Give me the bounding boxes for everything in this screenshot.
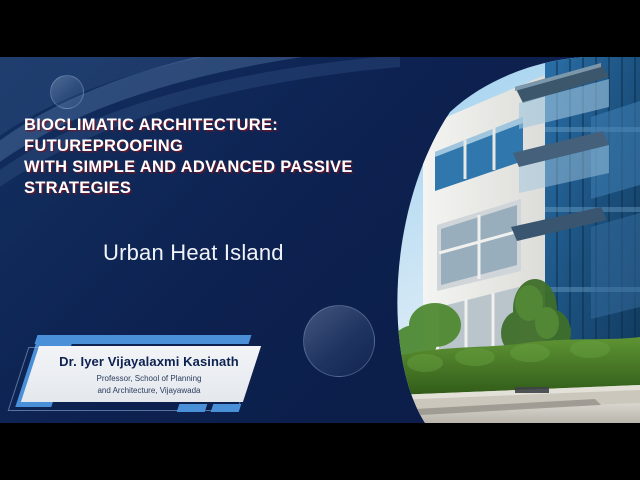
letterbox-bar-bottom bbox=[0, 423, 640, 480]
title-line-3: STRATEGIES bbox=[24, 178, 424, 199]
speaker-name: Dr. Iyer Vijayalaxmi Kasinath bbox=[59, 354, 239, 369]
name-card-chip-right bbox=[211, 404, 242, 412]
speaker-affiliation: Professor, School of Planning and Archit… bbox=[97, 373, 202, 396]
decorative-circle-small bbox=[50, 75, 84, 109]
decorative-circle-large bbox=[303, 305, 375, 377]
speaker-name-card: Dr. Iyer Vijayalaxmi Kasinath Professor,… bbox=[0, 335, 300, 417]
name-card-chip-left bbox=[177, 404, 208, 412]
title-line-1: BIOCLIMATIC ARCHITECTURE: FUTUREPROOFING bbox=[24, 115, 424, 157]
title-line-2: WITH SIMPLE AND ADVANCED PASSIVE bbox=[24, 157, 424, 178]
slide-subtitle: Urban Heat Island bbox=[103, 240, 284, 266]
presentation-slide: BIOCLIMATIC ARCHITECTURE: FUTUREPROOFING… bbox=[0, 57, 640, 423]
speaker-affiliation-line-1: Professor, School of Planning bbox=[97, 373, 202, 385]
video-slide-frame: BIOCLIMATIC ARCHITECTURE: FUTUREPROOFING… bbox=[0, 0, 640, 480]
speaker-affiliation-line-2: and Architecture, Vijayawada bbox=[97, 385, 202, 397]
name-card-text: Dr. Iyer Vijayalaxmi Kasinath Professor,… bbox=[44, 347, 254, 403]
letterbox-bar-top bbox=[0, 0, 640, 57]
slide-title: BIOCLIMATIC ARCHITECTURE: FUTUREPROOFING… bbox=[24, 115, 424, 199]
